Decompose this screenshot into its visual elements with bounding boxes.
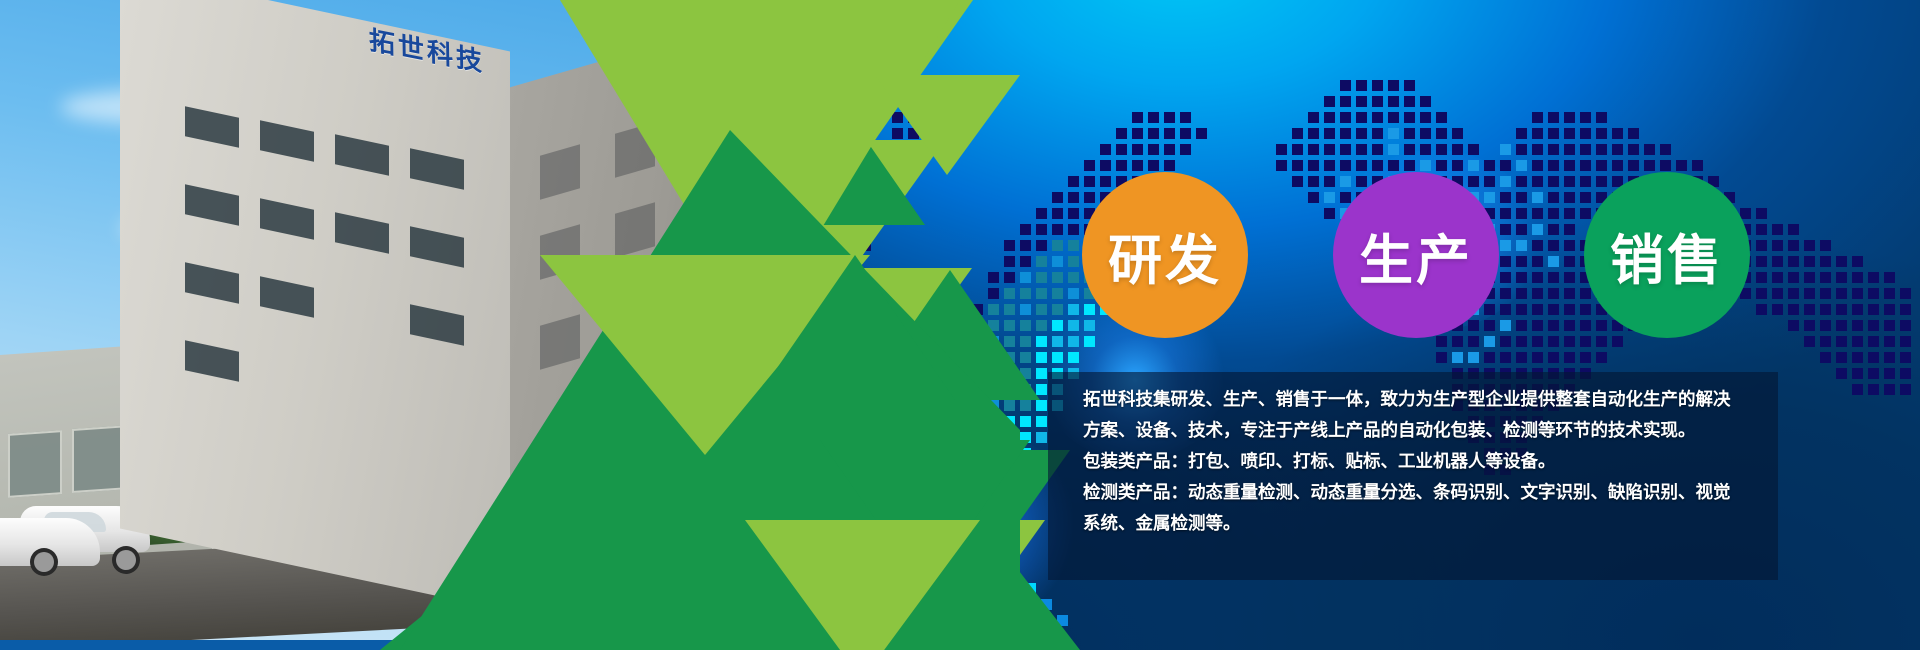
- map-dot: [1036, 208, 1047, 219]
- map-dot: [1436, 112, 1447, 123]
- map-dot: [908, 592, 919, 603]
- map-dot: [1436, 160, 1447, 171]
- map-dot: [1436, 336, 1447, 347]
- map-dot: [1740, 208, 1751, 219]
- map-dot: [1436, 352, 1447, 363]
- map-dot: [1292, 144, 1303, 155]
- map-dot: [1132, 160, 1143, 171]
- map-dot: [1580, 304, 1591, 315]
- map-dot: [796, 256, 807, 267]
- map-dot: [1036, 416, 1047, 427]
- map-dot: [1404, 144, 1415, 155]
- map-dot: [844, 288, 855, 299]
- map-dot: [1580, 288, 1591, 299]
- map-dot: [1041, 631, 1052, 642]
- map-dot: [1548, 224, 1559, 235]
- map-dot: [1116, 128, 1127, 139]
- map-dot: [956, 336, 967, 347]
- map-dot: [972, 480, 983, 491]
- map-dot: [780, 224, 791, 235]
- map-dot: [988, 320, 999, 331]
- map-dot: [1612, 336, 1623, 347]
- map-dot: [844, 560, 855, 571]
- map-dot: [1596, 160, 1607, 171]
- map-dot: [1452, 336, 1463, 347]
- map-dot: [828, 176, 839, 187]
- map-dot: [1900, 336, 1911, 347]
- map-dot: [812, 112, 823, 123]
- map-dot: [1356, 96, 1367, 107]
- map-dot: [1009, 599, 1020, 610]
- badge-production[interactable]: 生产: [1333, 172, 1499, 338]
- badge-research-development[interactable]: 研发: [1082, 172, 1248, 338]
- map-dot: [844, 208, 855, 219]
- map-dot: [1020, 384, 1031, 395]
- description-line: 检测类产品：动态重量检测、动态重量分选、条码识别、文字识别、缺陷识别、视觉: [1083, 478, 1773, 509]
- map-dot: [1404, 112, 1415, 123]
- map-dot: [988, 352, 999, 363]
- map-dot: [1308, 128, 1319, 139]
- map-dot: [1580, 192, 1591, 203]
- map-dot: [1788, 288, 1799, 299]
- map-dot: [1564, 288, 1575, 299]
- map-dot: [1804, 272, 1815, 283]
- map-dot: [876, 528, 887, 539]
- map-dot: [892, 176, 903, 187]
- map-dot: [956, 400, 967, 411]
- map-dot: [881, 455, 892, 466]
- map-dot: [972, 368, 983, 379]
- description-line: 方案、设备、技术，专注于产线上产品的自动化包装、检测等环节的技术实现。: [1083, 416, 1773, 447]
- map-dot: [1068, 336, 1079, 347]
- map-dot: [1564, 128, 1575, 139]
- map-dot: [1532, 336, 1543, 347]
- map-dot: [972, 512, 983, 523]
- map-dot: [1500, 192, 1511, 203]
- map-dot: [1404, 128, 1415, 139]
- map-dot: [988, 368, 999, 379]
- map-dot: [828, 592, 839, 603]
- map-dot: [1532, 128, 1543, 139]
- map-dot: [1004, 432, 1015, 443]
- map-dot: [844, 176, 855, 187]
- map-dot: [945, 503, 956, 514]
- map-dot: [988, 416, 999, 427]
- map-dot: [1532, 176, 1543, 187]
- map-dot: [1388, 128, 1399, 139]
- map-dot: [892, 512, 903, 523]
- map-dot: [844, 240, 855, 251]
- map-dot: [1820, 336, 1831, 347]
- map-dot: [892, 128, 903, 139]
- map-dot: [796, 224, 807, 235]
- map-dot: [1036, 224, 1047, 235]
- building-face-left: [120, 0, 510, 611]
- map-dot: [780, 128, 791, 139]
- map-dot: [972, 352, 983, 363]
- map-dot: [860, 592, 871, 603]
- map-dot: [1804, 320, 1815, 331]
- map-dot: [1500, 208, 1511, 219]
- map-dot: [828, 272, 839, 283]
- map-dot: [1820, 320, 1831, 331]
- map-dot: [1756, 304, 1767, 315]
- map-dot: [892, 528, 903, 539]
- map-dot: [1580, 160, 1591, 171]
- map-dot: [796, 112, 807, 123]
- map-dot: [924, 416, 935, 427]
- map-dot: [1388, 144, 1399, 155]
- map-dot: [780, 96, 791, 107]
- map-dot: [1372, 128, 1383, 139]
- map-dot: [1564, 176, 1575, 187]
- map-dot: [1484, 352, 1495, 363]
- map-dot: [1564, 240, 1575, 251]
- map-dot: [1836, 304, 1847, 315]
- map-dot: [1772, 224, 1783, 235]
- map-dot: [1500, 352, 1511, 363]
- map-dot: [1388, 112, 1399, 123]
- map-dot: [1356, 176, 1367, 187]
- map-dot: [1596, 336, 1607, 347]
- map-dot: [860, 560, 871, 571]
- map-dot: [908, 448, 919, 459]
- map-dot: [860, 176, 871, 187]
- map-dot: [1340, 128, 1351, 139]
- map-dot: [860, 528, 871, 539]
- map-dot: [1020, 464, 1031, 475]
- map-dot: [860, 96, 871, 107]
- map-dot: [1308, 192, 1319, 203]
- map-dot: [1420, 160, 1431, 171]
- map-dot: [1052, 192, 1063, 203]
- map-dot: [865, 455, 876, 466]
- map-dot: [929, 487, 940, 498]
- map-dot: [1057, 615, 1068, 626]
- map-dot: [1356, 128, 1367, 139]
- map-dot: [1388, 80, 1399, 91]
- map-dot: [828, 112, 839, 123]
- map-dot: [1009, 567, 1020, 578]
- map-dot: [924, 464, 935, 475]
- map-dot: [1900, 384, 1911, 395]
- map-dot: [1068, 256, 1079, 267]
- warehouse-window: [8, 430, 62, 498]
- map-dot: [972, 464, 983, 475]
- map-dot: [1516, 240, 1527, 251]
- map-dot: [1004, 496, 1015, 507]
- map-dot: [1516, 304, 1527, 315]
- map-dot: [1020, 368, 1031, 379]
- map-dot: [956, 384, 967, 395]
- map-dot: [796, 288, 807, 299]
- map-dot: [940, 464, 951, 475]
- map-dot: [796, 144, 807, 155]
- map-dot: [1628, 128, 1639, 139]
- map-dot: [1852, 336, 1863, 347]
- map-dot: [1532, 240, 1543, 251]
- map-dot: [1772, 272, 1783, 283]
- map-dot: [1276, 144, 1287, 155]
- map-dot: [1100, 144, 1111, 155]
- map-dot: [828, 320, 839, 331]
- map-dot: [940, 480, 951, 491]
- map-dot: [1420, 144, 1431, 155]
- map-dot: [1804, 240, 1815, 251]
- map-dot: [988, 480, 999, 491]
- map-dot: [897, 487, 908, 498]
- map-dot: [1884, 288, 1895, 299]
- map-dot: [1036, 320, 1047, 331]
- map-dot: [1041, 599, 1052, 610]
- map-dot: [913, 503, 924, 514]
- map-dot: [1852, 368, 1863, 379]
- map-dot: [977, 535, 988, 546]
- map-dot: [1516, 320, 1527, 331]
- map-dot: [1548, 208, 1559, 219]
- promo-banner: 拓世科技 研发 生产 销售 拓世科技集研发、生产、销售于一体，致力为生产型企业提…: [0, 0, 1920, 650]
- map-dot: [1516, 224, 1527, 235]
- map-dot: [1324, 160, 1335, 171]
- map-dot: [860, 224, 871, 235]
- map-dot: [1004, 256, 1015, 267]
- map-dot: [844, 192, 855, 203]
- map-dot: [1548, 192, 1559, 203]
- map-dot: [940, 416, 951, 427]
- map-dot: [1116, 144, 1127, 155]
- map-dot: [1372, 144, 1383, 155]
- map-dot: [876, 592, 887, 603]
- map-dot: [796, 176, 807, 187]
- map-dot: [828, 608, 839, 619]
- map-dot: [1900, 368, 1911, 379]
- map-dot: [1580, 336, 1591, 347]
- map-dot: [876, 176, 887, 187]
- map-dot: [1532, 144, 1543, 155]
- map-dot: [988, 304, 999, 315]
- map-dot: [876, 160, 887, 171]
- map-dot: [1836, 272, 1847, 283]
- map-dot: [1500, 224, 1511, 235]
- map-dot: [1084, 336, 1095, 347]
- map-dot: [1564, 144, 1575, 155]
- map-dot: [956, 448, 967, 459]
- description-line: 拓世科技集研发、生产、销售于一体，致力为生产型企业提供整套自动化生产的解决: [1083, 385, 1773, 416]
- map-dot: [988, 288, 999, 299]
- map-dot: [1516, 288, 1527, 299]
- map-dot: [1324, 176, 1335, 187]
- map-dot: [1324, 128, 1335, 139]
- map-dot: [844, 160, 855, 171]
- map-dot: [1340, 80, 1351, 91]
- map-dot: [1820, 288, 1831, 299]
- map-dot: [1836, 336, 1847, 347]
- map-dot: [1900, 352, 1911, 363]
- map-dot: [860, 128, 871, 139]
- map-dot: [1564, 320, 1575, 331]
- map-dot: [924, 576, 935, 587]
- map-dot: [988, 432, 999, 443]
- map-dot: [1052, 208, 1063, 219]
- map-dot: [1532, 352, 1543, 363]
- map-dot: [1004, 384, 1015, 395]
- map-dot: [1036, 384, 1047, 395]
- map-dot: [1548, 304, 1559, 315]
- map-dot: [1020, 352, 1031, 363]
- map-dot: [1516, 176, 1527, 187]
- map-dot: [1292, 128, 1303, 139]
- map-dot: [1516, 256, 1527, 267]
- map-dot: [1388, 96, 1399, 107]
- map-dot: [1324, 144, 1335, 155]
- badge-sales[interactable]: 销售: [1584, 172, 1750, 338]
- map-dot: [1580, 320, 1591, 331]
- map-dot: [956, 480, 967, 491]
- map-dot: [1004, 288, 1015, 299]
- map-dot: [1036, 400, 1047, 411]
- map-dot: [1025, 615, 1036, 626]
- map-dot: [1468, 176, 1479, 187]
- map-dot: [828, 96, 839, 107]
- map-dot: [924, 80, 935, 91]
- map-dot: [908, 432, 919, 443]
- map-dot: [860, 208, 871, 219]
- map-dot: [1020, 256, 1031, 267]
- map-dot: [780, 256, 791, 267]
- map-dot: [828, 240, 839, 251]
- map-dot: [1548, 272, 1559, 283]
- map-dot: [1548, 256, 1559, 267]
- map-dot: [796, 96, 807, 107]
- map-dot: [1500, 176, 1511, 187]
- map-dot: [1404, 80, 1415, 91]
- description-line: 包装类产品：打包、喷印、打标、贴标、工业机器人等设备。: [1083, 447, 1773, 478]
- map-dot: [1564, 224, 1575, 235]
- map-dot: [876, 576, 887, 587]
- map-dot: [860, 544, 871, 555]
- map-dot: [1340, 96, 1351, 107]
- map-dot: [1756, 240, 1767, 251]
- map-dot: [860, 80, 871, 91]
- map-dot: [1340, 112, 1351, 123]
- map-dot: [1324, 208, 1335, 219]
- map-dot: [1868, 352, 1879, 363]
- map-dot: [1020, 320, 1031, 331]
- map-dot: [1180, 144, 1191, 155]
- map-dot: [828, 160, 839, 171]
- map-dot: [1004, 352, 1015, 363]
- map-dot: [1884, 272, 1895, 283]
- map-dot: [1308, 176, 1319, 187]
- map-dot: [1580, 128, 1591, 139]
- map-dot: [956, 432, 967, 443]
- map-dot: [1084, 160, 1095, 171]
- map-dot: [1436, 128, 1447, 139]
- map-dot: [1484, 304, 1495, 315]
- map-dot: [1756, 256, 1767, 267]
- map-dot: [876, 208, 887, 219]
- map-dot: [1516, 192, 1527, 203]
- map-dot: [1596, 112, 1607, 123]
- map-dot: [1404, 160, 1415, 171]
- map-dot: [1052, 288, 1063, 299]
- map-dot: [1292, 160, 1303, 171]
- map-dot: [908, 112, 919, 123]
- map-dot: [1404, 96, 1415, 107]
- map-dot: [1052, 272, 1063, 283]
- map-dot: [1420, 96, 1431, 107]
- map-dot: [796, 160, 807, 171]
- map-dot: [993, 583, 1004, 594]
- map-dot: [908, 96, 919, 107]
- map-dot: [1644, 160, 1655, 171]
- map-dot: [1004, 368, 1015, 379]
- map-dot: [1628, 160, 1639, 171]
- map-dot: [1356, 112, 1367, 123]
- map-dot: [844, 128, 855, 139]
- map-dot: [796, 80, 807, 91]
- map-dot: [1036, 272, 1047, 283]
- map-dot: [1372, 112, 1383, 123]
- map-dot: [1420, 112, 1431, 123]
- map-dot: [1548, 288, 1559, 299]
- map-dot: [1308, 112, 1319, 123]
- map-dot: [1132, 128, 1143, 139]
- map-dot: [780, 80, 791, 91]
- map-dot: [1756, 288, 1767, 299]
- map-dot: [1356, 144, 1367, 155]
- map-dot: [892, 112, 903, 123]
- map-dot: [972, 432, 983, 443]
- map-dot: [1484, 176, 1495, 187]
- map-dot: [1548, 160, 1559, 171]
- map-dot: [1356, 160, 1367, 171]
- map-dot: [1036, 240, 1047, 251]
- map-dot: [972, 384, 983, 395]
- map-dot: [1548, 176, 1559, 187]
- map-dot: [1884, 352, 1895, 363]
- map-dot: [1484, 192, 1495, 203]
- map-dot: [1500, 304, 1511, 315]
- map-dot: [1500, 144, 1511, 155]
- map-dot: [961, 519, 972, 530]
- map-dot: [1772, 256, 1783, 267]
- map-dot: [1004, 304, 1015, 315]
- map-dot: [812, 208, 823, 219]
- map-dot: [1036, 368, 1047, 379]
- map-dot: [1052, 224, 1063, 235]
- map-dot: [1388, 160, 1399, 171]
- map-dot: [1020, 304, 1031, 315]
- map-dot: [1356, 80, 1367, 91]
- map-dot: [940, 576, 951, 587]
- map-dot: [929, 519, 940, 530]
- map-dot: [908, 560, 919, 571]
- map-dot: [780, 192, 791, 203]
- map-dot: [1148, 112, 1159, 123]
- map-dot: [876, 112, 887, 123]
- map-dot: [1676, 160, 1687, 171]
- map-dot: [1788, 320, 1799, 331]
- map-dot: [1532, 304, 1543, 315]
- map-dot: [876, 544, 887, 555]
- map-dot: [1500, 320, 1511, 331]
- map-dot: [1756, 224, 1767, 235]
- map-dot: [1564, 352, 1575, 363]
- map-dot: [1068, 240, 1079, 251]
- map-dot: [1804, 304, 1815, 315]
- map-dot: [1025, 583, 1036, 594]
